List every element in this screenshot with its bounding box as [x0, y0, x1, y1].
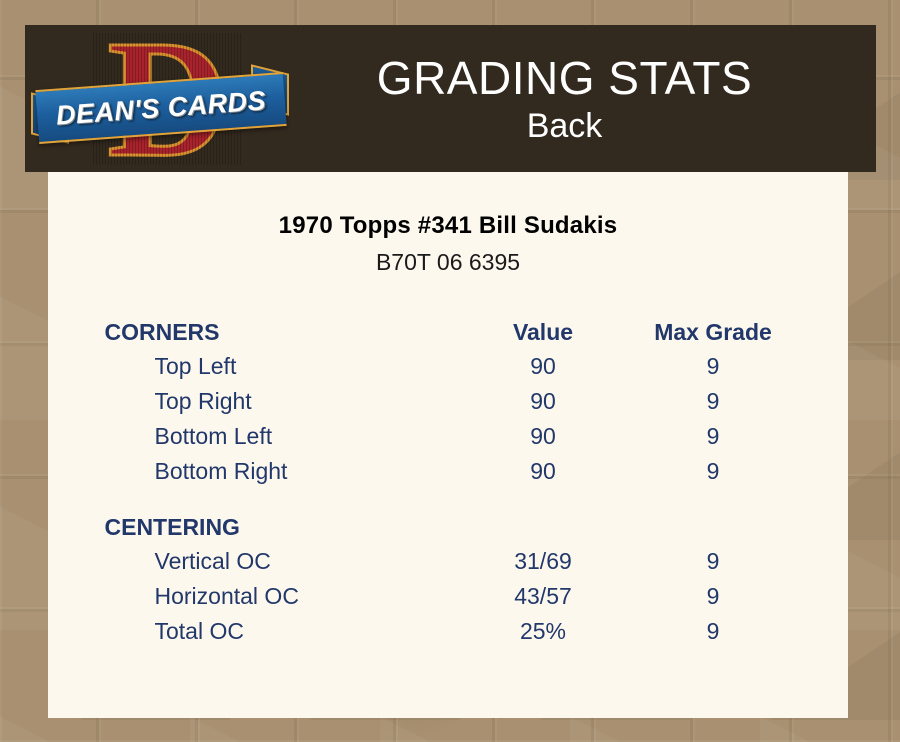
table-section-header: CENTERING — [101, 503, 796, 544]
stat-label: Vertical OC — [101, 544, 456, 579]
logo-ribbon: DEAN'S CARDS — [35, 72, 286, 144]
logo-ribbon-text: DEAN'S CARDS — [55, 85, 267, 131]
stat-value: 90 — [456, 454, 631, 489]
table-row: Bottom Right909 — [101, 454, 796, 489]
column-header-value — [456, 503, 631, 544]
stat-max-grade: 9 — [631, 614, 796, 649]
card-title: 1970 Topps #341 Bill Sudakis — [48, 212, 848, 240]
stat-label: Bottom Right — [101, 454, 456, 489]
content-panel: 1970 Topps #341 Bill Sudakis B70T 06 639… — [48, 172, 848, 718]
header-titles: GRADING STATS Back — [293, 51, 876, 147]
stat-value: 90 — [456, 384, 631, 419]
table-row: Bottom Left909 — [101, 419, 796, 454]
section-title: CORNERS — [101, 308, 456, 349]
stat-max-grade: 9 — [631, 419, 796, 454]
page-title: GRADING STATS — [293, 51, 836, 105]
stat-label: Horizontal OC — [101, 579, 456, 614]
stat-label: Top Right — [101, 384, 456, 419]
stat-label: Total OC — [101, 614, 456, 649]
page-subtitle: Back — [293, 105, 836, 147]
table-row: Top Left909 — [101, 349, 796, 384]
table-row: Vertical OC31/699 — [101, 544, 796, 579]
stat-label: Bottom Left — [101, 419, 456, 454]
column-header-max-grade — [631, 503, 796, 544]
table-row: Horizontal OC43/579 — [101, 579, 796, 614]
stat-value: 31/69 — [456, 544, 631, 579]
stat-value: 25% — [456, 614, 631, 649]
card-serial-number: B70T 06 6395 — [48, 249, 848, 276]
table-section-header: CORNERSValueMax Grade — [101, 308, 796, 349]
section-title: CENTERING — [101, 503, 456, 544]
stat-max-grade: 9 — [631, 579, 796, 614]
grading-stats-table: CORNERSValueMax GradeTop Left909Top Righ… — [101, 308, 796, 649]
header-bar: D DEAN'S CARDS GRADING STATS Back — [25, 25, 876, 172]
spacer-cell — [101, 489, 796, 503]
column-header-value: Value — [456, 308, 631, 349]
stat-label: Top Left — [101, 349, 456, 384]
stat-max-grade: 9 — [631, 384, 796, 419]
stat-max-grade: 9 — [631, 349, 796, 384]
table-row: Total OC25%9 — [101, 614, 796, 649]
column-header-max-grade: Max Grade — [631, 308, 796, 349]
table-section-spacer — [101, 489, 796, 503]
table-row: Top Right909 — [101, 384, 796, 419]
stat-value: 90 — [456, 419, 631, 454]
deans-cards-logo[interactable]: D DEAN'S CARDS — [25, 25, 293, 172]
stat-max-grade: 9 — [631, 544, 796, 579]
stat-max-grade: 9 — [631, 454, 796, 489]
stat-value: 43/57 — [456, 579, 631, 614]
stat-value: 90 — [456, 349, 631, 384]
